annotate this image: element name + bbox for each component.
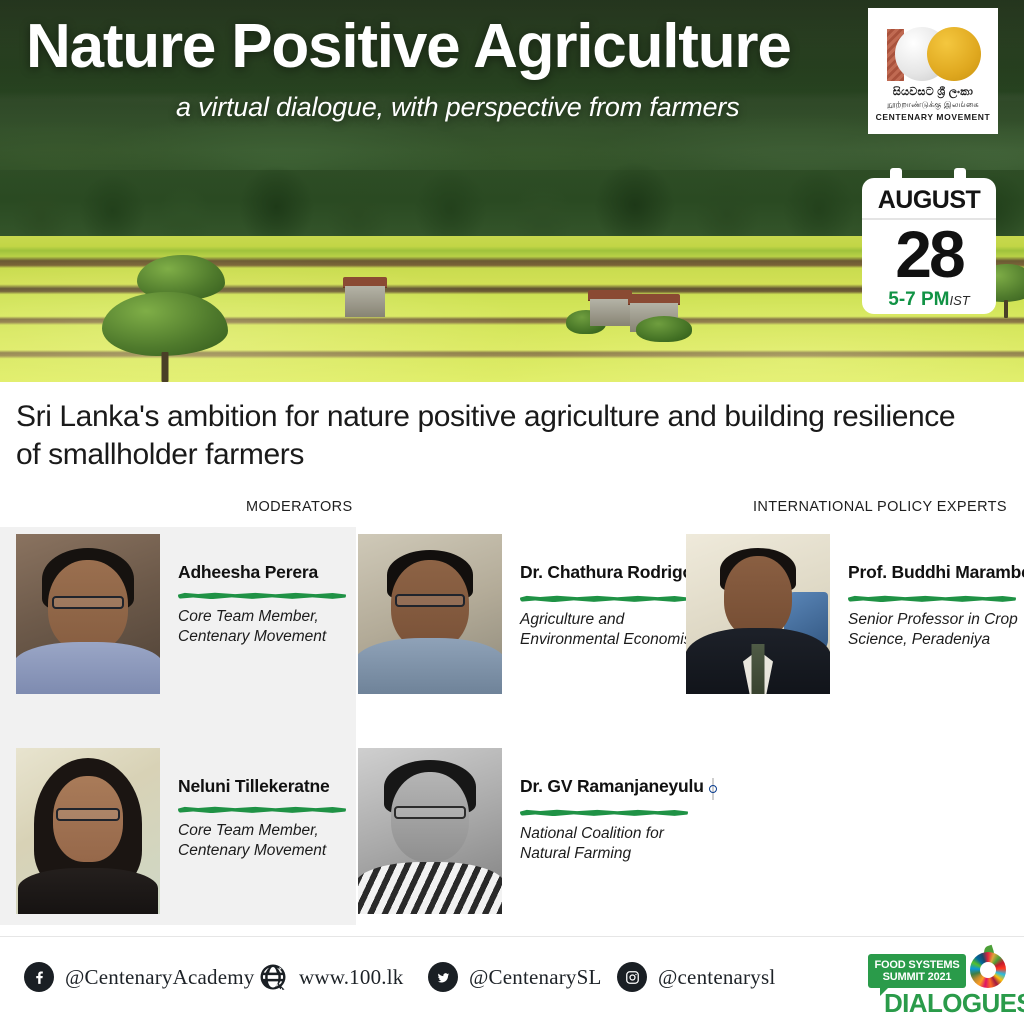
avatar <box>358 748 502 914</box>
social-handle: @centenarysl <box>658 965 775 990</box>
logo-english-text: CENTENARY MOVEMENT <box>876 112 991 122</box>
logo-sinhala-text: සියවසට ශ්‍රී ලංකා <box>893 86 973 99</box>
speaker-name: Neluni Tillekeratne <box>178 776 368 797</box>
summit-line3: DIALOGUES <box>884 988 1024 1019</box>
food-systems-summit-logo: FOOD SYSTEMS SUMMIT 2021 DIALOGUES <box>868 950 1008 1016</box>
social-link-facebook[interactable]: @CentenaryAcademy <box>24 962 255 992</box>
page-subtitle: a virtual dialogue, with perspective fro… <box>176 92 739 123</box>
speaker-role: National Coalition for Natural Farming <box>520 824 716 864</box>
speaker-role: Core Team Member, Centenary Movement <box>178 607 368 647</box>
twitter-icon <box>428 962 458 992</box>
avatar <box>16 534 160 694</box>
experts-section-label: INTERNATIONAL POLICY EXPERTS <box>753 499 1007 515</box>
website-url: www.100.lk <box>299 965 403 990</box>
sdg-wheel-icon <box>970 952 1006 988</box>
speaker-card: Neluni Tillekeratne Core Team Member, Ce… <box>16 748 368 914</box>
footer-divider <box>0 936 1024 937</box>
summit-speech-bubble: FOOD SYSTEMS SUMMIT 2021 <box>868 954 966 988</box>
speaker-name-text: Prof. Buddhi Marambe <box>848 562 1024 582</box>
event-timezone: IST <box>950 293 970 308</box>
social-handle: @CentenaryAcademy <box>65 965 255 990</box>
event-month: AUGUST <box>878 186 981 215</box>
event-day: 28 <box>895 222 962 287</box>
speaker-card: Dr. GV Ramanjaneyulu National Coalition … <box>358 748 716 914</box>
speaker-role: Senior Professor in Crop Science, Perade… <box>848 610 1024 650</box>
speaker-name-text: Dr. GV Ramanjaneyulu <box>520 776 704 796</box>
event-time: 5-7 PMIST <box>888 289 969 311</box>
centenary-movement-logo: සියවසට ශ්‍රී ලංකා நூற்றாண்டுக்கு இலங்கை … <box>868 8 998 134</box>
logo-tamil-text: நூற்றாண்டுக்கு இலங்கை <box>887 100 979 110</box>
speaker-card: Dr. Chathura Rodrigo Agriculture and Env… <box>358 534 716 694</box>
accent-underline <box>520 595 688 602</box>
event-headline: Sri Lanka's ambition for nature positive… <box>16 398 976 475</box>
instagram-icon <box>617 962 647 992</box>
facebook-icon <box>24 962 54 992</box>
speaker-name: Prof. Buddhi Marambe <box>848 562 1024 586</box>
page-title: Nature Positive Agriculture <box>26 14 791 79</box>
hero-banner: Nature Positive Agriculture a virtual di… <box>0 0 1024 382</box>
social-link-twitter[interactable]: @CentenarySL <box>428 962 602 992</box>
summit-line2: SUMMIT 2021 <box>883 971 952 983</box>
avatar <box>358 534 502 694</box>
summit-line1: FOOD SYSTEMS <box>875 959 960 971</box>
speaker-card: Prof. Buddhi Marambe Senior Professor in… <box>686 534 1024 694</box>
accent-underline <box>520 809 688 816</box>
date-badge: AUGUST 28 5-7 PMIST <box>862 168 996 314</box>
avatar <box>16 748 160 914</box>
speaker-name: Adheesha Perera <box>178 562 368 583</box>
social-link-instagram[interactable]: @centenarysl <box>617 962 775 992</box>
accent-underline <box>178 592 346 599</box>
speaker-role: Core Team Member, Centenary Movement <box>178 821 368 861</box>
social-handle: @CentenarySL <box>469 965 602 990</box>
avatar <box>686 534 830 694</box>
event-poster: Nature Positive Agriculture a virtual di… <box>0 0 1024 1024</box>
logo-100-mark <box>881 25 985 83</box>
speaker-card: Adheesha Perera Core Team Member, Centen… <box>16 534 368 694</box>
accent-underline <box>178 806 346 813</box>
moderators-section-label: MODERATORS <box>246 499 353 515</box>
globe-icon <box>258 962 288 992</box>
speaker-name: Dr. GV Ramanjaneyulu <box>520 776 716 800</box>
india-flag-icon <box>712 779 714 800</box>
speaker-name-text: Dr. Chathura Rodrigo <box>520 562 693 582</box>
event-time-range: 5-7 PM <box>888 289 949 310</box>
accent-underline <box>848 595 1016 602</box>
social-link-website[interactable]: www.100.lk <box>258 962 403 992</box>
